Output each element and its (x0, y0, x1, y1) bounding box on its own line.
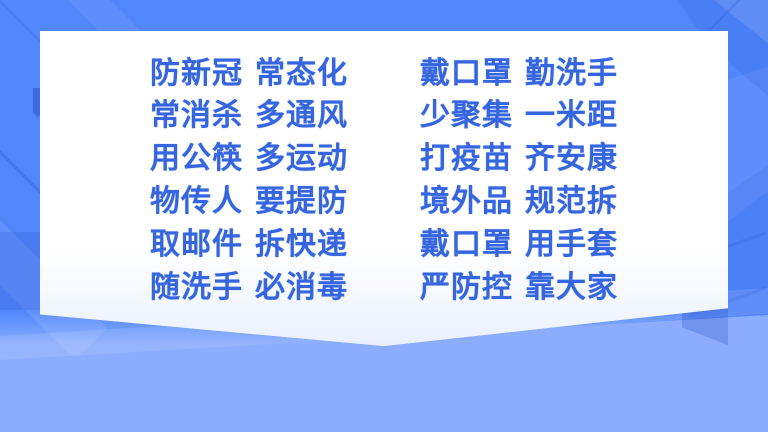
slogan-part-second: 一米距 (525, 98, 618, 133)
poster-canvas: 防新冠常态化 常消杀多通风 用公筷多运动 物传人要提防 取邮件拆快递 随洗手必消… (0, 0, 768, 432)
slogan-line: 用公筷多运动 (150, 139, 348, 180)
slogan-part-first: 随洗手 (150, 270, 243, 305)
slogan-line: 防新冠常态化 (150, 54, 348, 95)
slogan-part-second: 多通风 (255, 98, 348, 133)
slogan-line: 常消杀多通风 (150, 96, 348, 137)
slogan-grid: 防新冠常态化 常消杀多通风 用公筷多运动 物传人要提防 取邮件拆快递 随洗手必消… (40, 31, 728, 321)
slogan-part-first: 常消杀 (150, 98, 243, 133)
slogan-part-first: 严防控 (420, 270, 513, 305)
slogan-part-first: 境外品 (420, 184, 513, 219)
slogan-part-second: 拆快递 (255, 227, 348, 262)
slogan-line: 严防控靠大家 (420, 268, 618, 309)
slogan-part-first: 戴口罩 (420, 227, 513, 262)
slogan-column-left: 防新冠常态化 常消杀多通风 用公筷多运动 物传人要提防 取邮件拆快递 随洗手必消… (150, 54, 348, 309)
slogan-part-first: 取邮件 (150, 227, 243, 262)
slogan-part-second: 齐安康 (525, 141, 618, 176)
slogan-line: 境外品规范拆 (420, 182, 618, 223)
slogan-part-second: 靠大家 (525, 270, 618, 305)
slogan-line: 打疫苗齐安康 (420, 139, 618, 180)
bottom-left-block (0, 232, 40, 310)
slogan-part-first: 防新冠 (150, 56, 243, 91)
slogan-part-first: 戴口罩 (420, 56, 513, 91)
slogan-column-right: 戴口罩勤洗手 少聚集一米距 打疫苗齐安康 境外品规范拆 戴口罩用手套 严防控靠大… (420, 54, 618, 309)
slogan-part-second: 多运动 (255, 141, 348, 176)
slogan-line: 物传人要提防 (150, 182, 348, 223)
slogan-part-first: 用公筷 (150, 141, 243, 176)
slogan-part-second: 必消毒 (255, 270, 348, 305)
slogan-part-second: 常态化 (255, 56, 348, 91)
slogan-part-second: 要提防 (255, 184, 348, 219)
slogan-part-first: 物传人 (150, 184, 243, 219)
slogan-part-second: 勤洗手 (525, 56, 618, 91)
slogan-part-second: 用手套 (525, 227, 618, 262)
slogan-line: 戴口罩勤洗手 (420, 54, 618, 95)
slogan-part-second: 规范拆 (525, 184, 618, 219)
slogan-line: 少聚集一米距 (420, 96, 618, 137)
slogan-line: 随洗手必消毒 (150, 268, 348, 309)
slogan-line: 取邮件拆快递 (150, 225, 348, 266)
slogan-part-first: 打疫苗 (420, 141, 513, 176)
slogan-part-first: 少聚集 (420, 98, 513, 133)
slogan-line: 戴口罩用手套 (420, 225, 618, 266)
